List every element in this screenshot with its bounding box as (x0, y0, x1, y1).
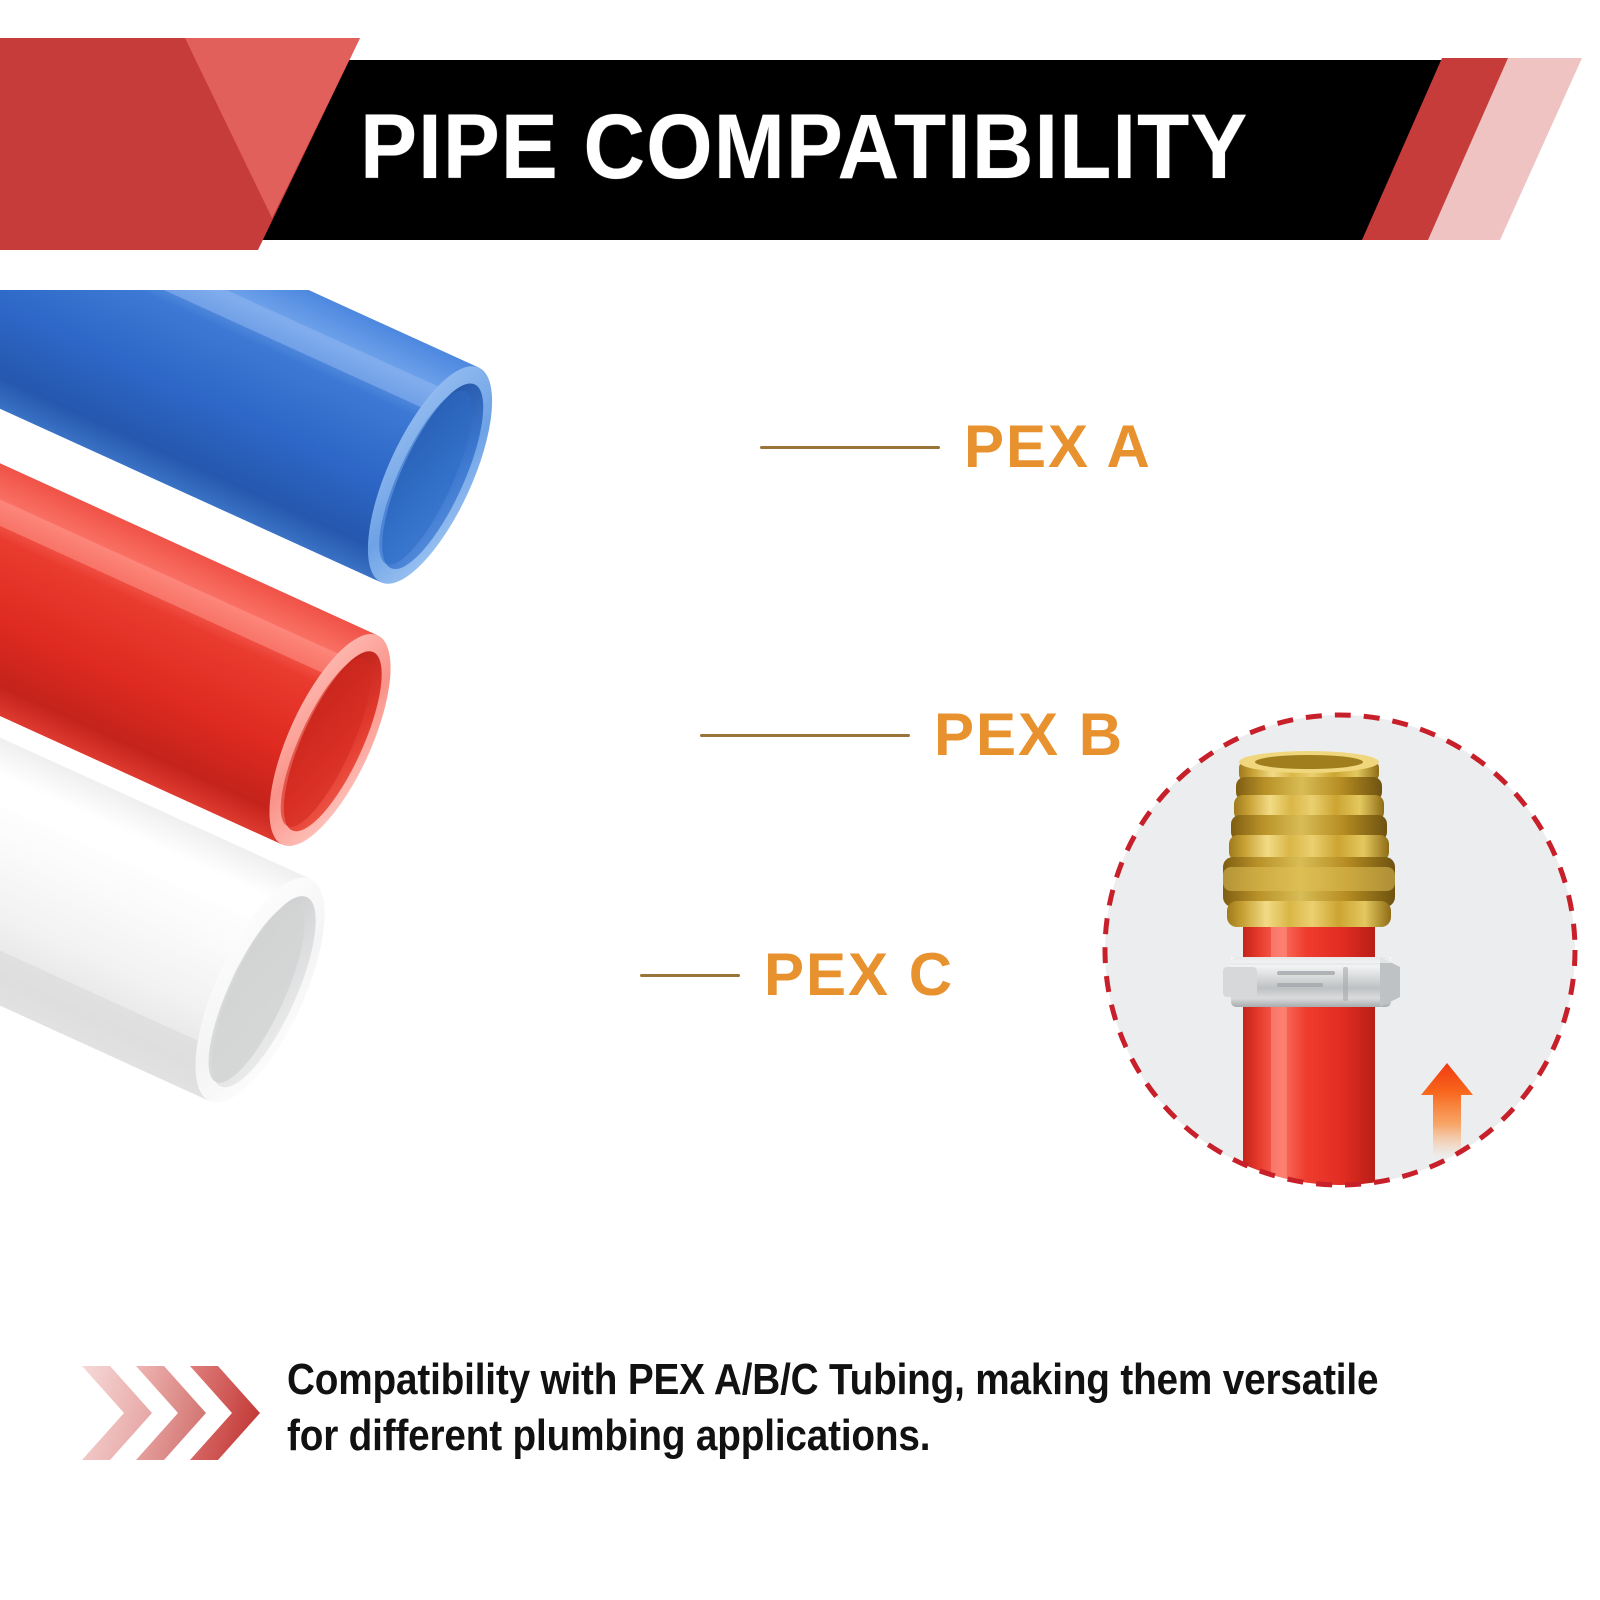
chevron-arrows-icon (80, 1358, 265, 1468)
inset-red-pipe (1243, 905, 1375, 1195)
page-title: PIPE COMPATIBILITY (360, 92, 1290, 202)
chevron-icon-1 (82, 1366, 152, 1460)
callout-label-pex-c: PEX C (764, 945, 954, 1005)
footer-caption-text: Compatibility with PEX A/B/C Tubing, mak… (287, 1352, 1381, 1465)
brass-pex-fitting (1223, 751, 1395, 927)
leader-line-pex-a (760, 446, 940, 449)
brass-fitting-top-bore (1255, 755, 1363, 769)
detail-inset-circle (1095, 705, 1585, 1195)
brass-fitting-shoulder (1227, 901, 1391, 927)
pex-pipes-illustration (0, 290, 860, 1310)
callout-label-pex-a: PEX A (964, 417, 1152, 477)
leader-line-pex-b (700, 734, 910, 737)
inset-red-pipe-highlight (1271, 905, 1287, 1195)
footer-caption-row: Compatibility with PEX A/B/C Tubing, mak… (80, 1352, 1530, 1468)
clamp-left-tab (1223, 967, 1257, 997)
infographic-page: PIPE COMPATIBILITY (0, 0, 1600, 1600)
stainless-cinch-clamp (1223, 957, 1400, 1007)
header-banner: PIPE COMPATIBILITY (0, 0, 1600, 270)
callout-pex-c: PEX C (640, 940, 954, 1010)
callout-pex-b: PEX B (700, 700, 1124, 770)
brass-fitting-emboss-band (1223, 867, 1395, 891)
leader-line-pex-c (640, 974, 740, 977)
callout-pex-a: PEX A (760, 412, 1152, 482)
